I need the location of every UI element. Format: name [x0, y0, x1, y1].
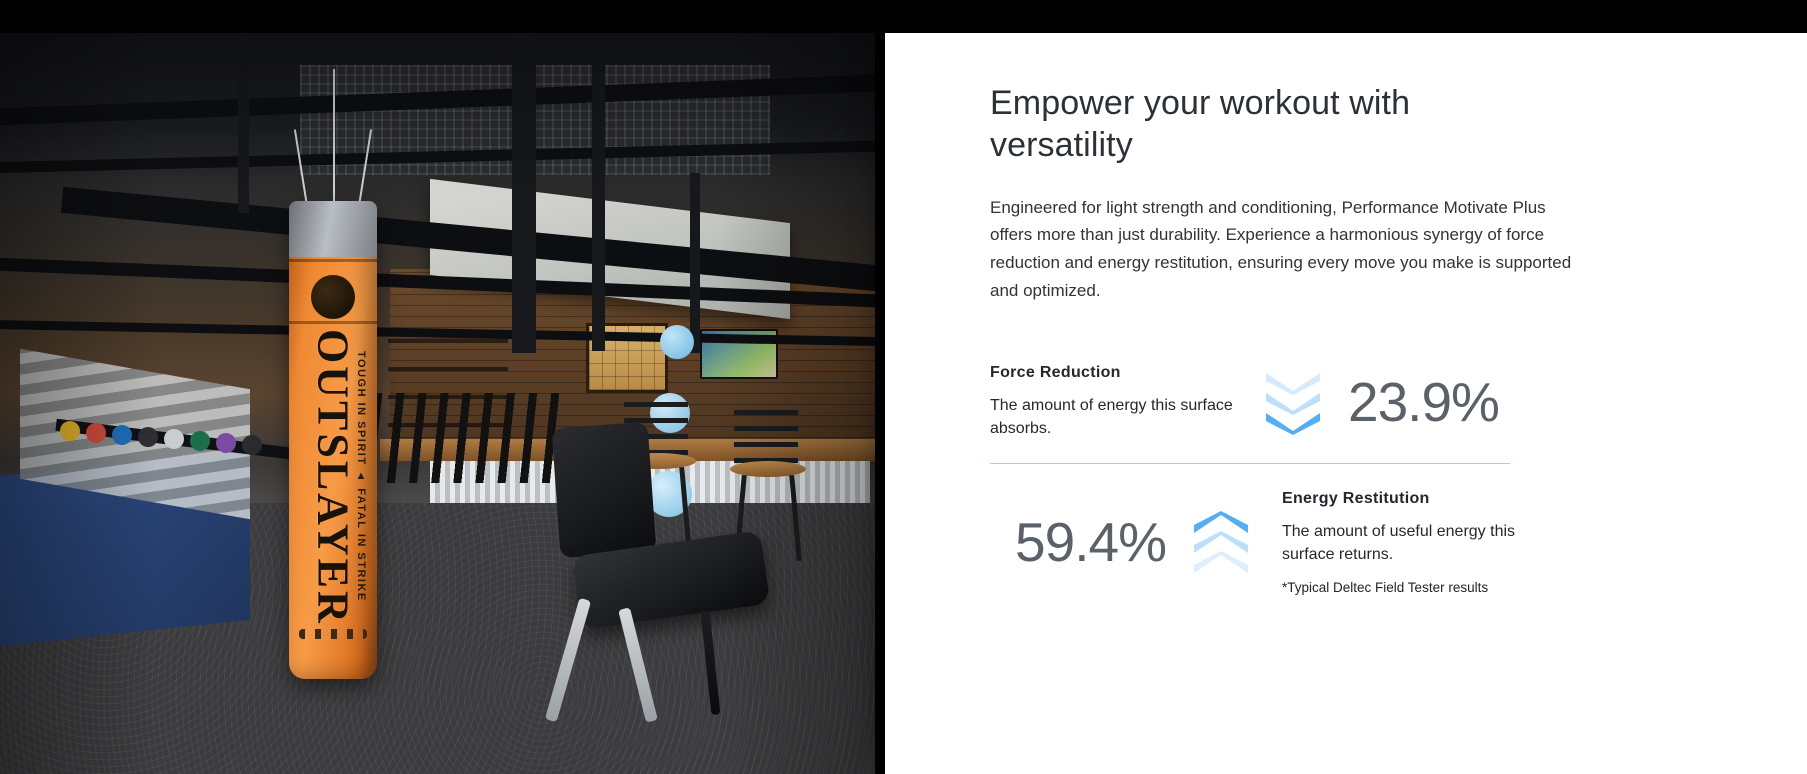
energy-restitution-text: Energy Restitution The amount of useful … [1282, 490, 1522, 595]
punching-bag-grommets [299, 629, 367, 639]
page-title: Empower your workout with versatility [990, 33, 1490, 167]
chevron-up-group [1166, 513, 1276, 573]
chevron-down-icon [1262, 411, 1324, 435]
punching-bag-brand: OUTSLAYER [308, 329, 359, 626]
energy-restitution-value: 59.4% [990, 515, 1166, 570]
punching-bag: OUTSLAYER TOUGH IN SPIRIT ▲ FATAL IN STR… [289, 201, 377, 679]
stats-section: Force Reduction The amount of energy thi… [990, 364, 1610, 595]
stats-footnote: *Typical Deltec Field Tester results [1282, 580, 1522, 595]
support-column [512, 33, 536, 353]
energy-restitution-title: Energy Restitution [1282, 490, 1522, 508]
stats-divider [990, 463, 1510, 464]
content-panel: Empower your workout with versatility En… [885, 33, 1807, 774]
punching-bag-cap [289, 201, 377, 257]
force-reduction-title: Force Reduction [990, 364, 1238, 382]
page-root: OUTSLAYER TOUGH IN SPIRIT ▲ FATAL IN STR… [0, 0, 1807, 774]
chevron-down-group [1238, 373, 1348, 433]
support-column [592, 51, 605, 351]
body-paragraph: Engineered for light strength and condit… [990, 194, 1575, 305]
energy-restitution-description: The amount of useful energy this surface… [1282, 521, 1522, 566]
gym-interior-photo: OUTSLAYER TOUGH IN SPIRIT ▲ FATAL IN STR… [0, 33, 875, 774]
force-reduction-value: 23.9% [1348, 375, 1499, 430]
support-column [238, 33, 249, 213]
chevron-up-icon [1190, 551, 1252, 575]
force-reduction-description: The amount of energy this surface absorb… [990, 395, 1238, 440]
hanging-chain [333, 69, 335, 201]
punching-bag-tagline: TOUGH IN SPIRIT ▲ FATAL IN STRIKE [355, 351, 367, 602]
support-column [690, 173, 700, 353]
force-reduction-text: Force Reduction The amount of energy thi… [990, 364, 1238, 440]
punching-bag-logo [311, 275, 355, 319]
weight-bench [556, 425, 770, 725]
stat-force-reduction: Force Reduction The amount of energy thi… [990, 364, 1610, 440]
exercise-ball [660, 325, 694, 359]
stat-energy-restitution: 59.4% Energy Restitution [990, 490, 1610, 595]
